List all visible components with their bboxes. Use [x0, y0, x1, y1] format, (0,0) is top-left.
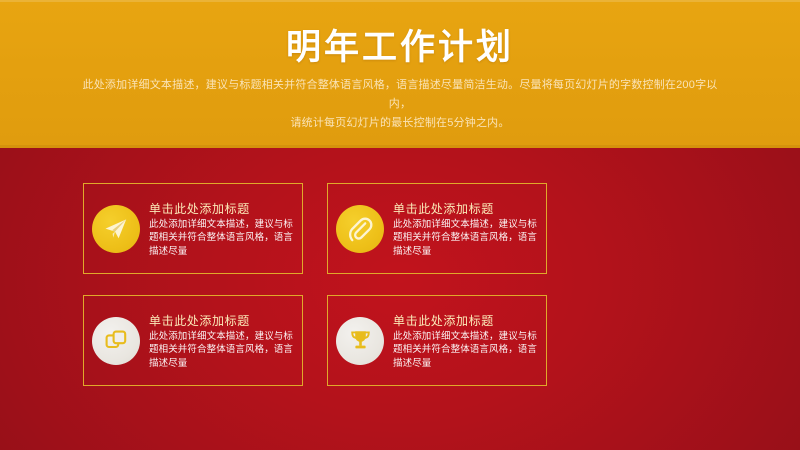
content-card[interactable]: 单击此处添加标题 此处添加详细文本描述，建议与标题相关并符合整体语言风格，语言描…	[83, 183, 303, 274]
card-text-block: 单击此处添加标题 此处添加详细文本描述，建议与标题相关并符合整体语言风格，语言描…	[149, 311, 296, 371]
card-title: 单击此处添加标题	[393, 313, 540, 329]
content-card[interactable]: 单击此处添加标题 此处添加详细文本描述，建议与标题相关并符合整体语言风格，语言描…	[327, 183, 547, 274]
copy-icon	[92, 317, 140, 365]
card-description: 此处添加详细文本描述，建议与标题相关并符合整体语言风格，语言描述尽量	[393, 330, 540, 371]
page-title: 明年工作计划	[0, 26, 800, 70]
content-card-grid: 单击此处添加标题 此处添加详细文本描述，建议与标题相关并符合整体语言风格，语言描…	[83, 183, 547, 386]
paperclip-icon	[336, 205, 384, 253]
trophy-icon	[336, 317, 384, 365]
content-card[interactable]: 单击此处添加标题 此处添加详细文本描述，建议与标题相关并符合整体语言风格，语言描…	[327, 295, 547, 386]
card-title: 单击此处添加标题	[149, 201, 296, 217]
card-description: 此处添加详细文本描述，建议与标题相关并符合整体语言风格，语言描述尽量	[149, 218, 296, 259]
card-text-block: 单击此处添加标题 此处添加详细文本描述，建议与标题相关并符合整体语言风格，语言描…	[393, 311, 540, 371]
card-description: 此处添加详细文本描述，建议与标题相关并符合整体语言风格，语言描述尽量	[149, 330, 296, 371]
slide-subtitle: 此处添加详细文本描述，建议与标题相关并符合整体语言风格，语言描述尽量简洁生动。尽…	[78, 76, 722, 133]
card-description: 此处添加详细文本描述，建议与标题相关并符合整体语言风格，语言描述尽量	[393, 218, 540, 259]
slide-header-band: 明年工作计划 此处添加详细文本描述，建议与标题相关并符合整体语言风格，语言描述尽…	[0, 0, 800, 148]
presentation-slide: 明年工作计划 此处添加详细文本描述，建议与标题相关并符合整体语言风格，语言描述尽…	[0, 0, 800, 450]
card-text-block: 单击此处添加标题 此处添加详细文本描述，建议与标题相关并符合整体语言风格，语言描…	[149, 199, 296, 259]
slide-subtitle-line-2: 请统计每页幻灯片的最长控制在5分钟之内。	[78, 114, 722, 133]
card-text-block: 单击此处添加标题 此处添加详细文本描述，建议与标题相关并符合整体语言风格，语言描…	[393, 199, 540, 259]
content-card[interactable]: 单击此处添加标题 此处添加详细文本描述，建议与标题相关并符合整体语言风格，语言描…	[83, 295, 303, 386]
card-title: 单击此处添加标题	[149, 313, 296, 329]
card-title: 单击此处添加标题	[393, 201, 540, 217]
slide-subtitle-line-1: 此处添加详细文本描述，建议与标题相关并符合整体语言风格，语言描述尽量简洁生动。尽…	[78, 76, 722, 114]
paper-plane-icon	[92, 205, 140, 253]
